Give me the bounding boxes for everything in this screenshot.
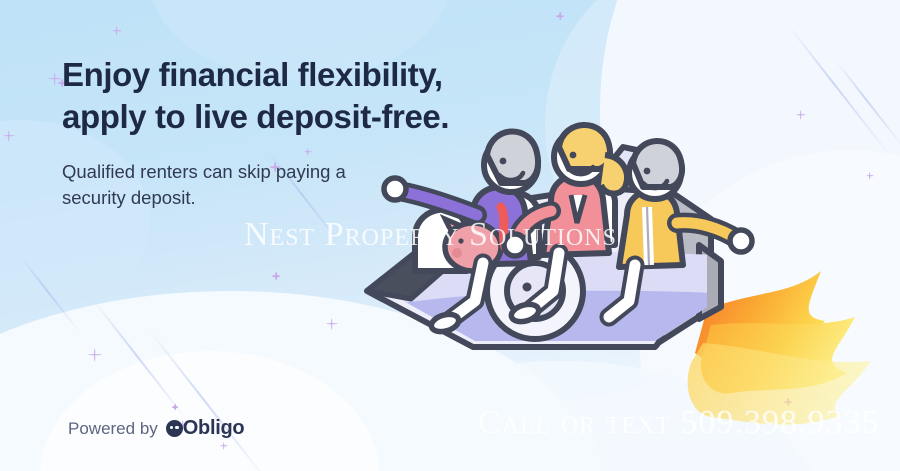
helmet bbox=[487, 131, 538, 183]
sparkle-decoration bbox=[3, 130, 14, 141]
headline-block: Enjoy financial flexibility, apply to li… bbox=[62, 54, 449, 212]
speed-streak bbox=[149, 330, 268, 471]
sparkle-decoration bbox=[272, 272, 280, 280]
powered-by-label: Powered by bbox=[68, 419, 158, 439]
powered-by-obligo: Powered by Obligo bbox=[68, 417, 244, 440]
piggy-bank bbox=[445, 219, 501, 271]
helmet bbox=[633, 141, 682, 187]
obligo-circle-face-icon bbox=[166, 420, 183, 437]
obligo-logo: Obligo bbox=[166, 417, 245, 440]
obligo-wordmark: Obligo bbox=[183, 417, 245, 440]
cloud-shape bbox=[40, 351, 380, 471]
sparkle-decoration bbox=[326, 318, 337, 329]
speed-streak bbox=[19, 255, 79, 331]
ponytail bbox=[601, 155, 627, 194]
sparkle-decoration bbox=[172, 404, 178, 410]
sparkle-decoration bbox=[112, 26, 121, 35]
promo-banner: Enjoy financial flexibility, apply to li… bbox=[0, 0, 900, 471]
sparkle-decoration bbox=[88, 348, 101, 361]
subheadline: Qualified renters can skip paying a secu… bbox=[62, 159, 449, 212]
page-title: Enjoy financial flexibility, apply to li… bbox=[62, 54, 449, 137]
sparkle-decoration bbox=[556, 12, 564, 20]
hair bbox=[559, 125, 610, 169]
sparkle-decoration bbox=[48, 72, 61, 85]
sparkle-decoration bbox=[220, 442, 227, 449]
speed-streak bbox=[93, 300, 187, 419]
